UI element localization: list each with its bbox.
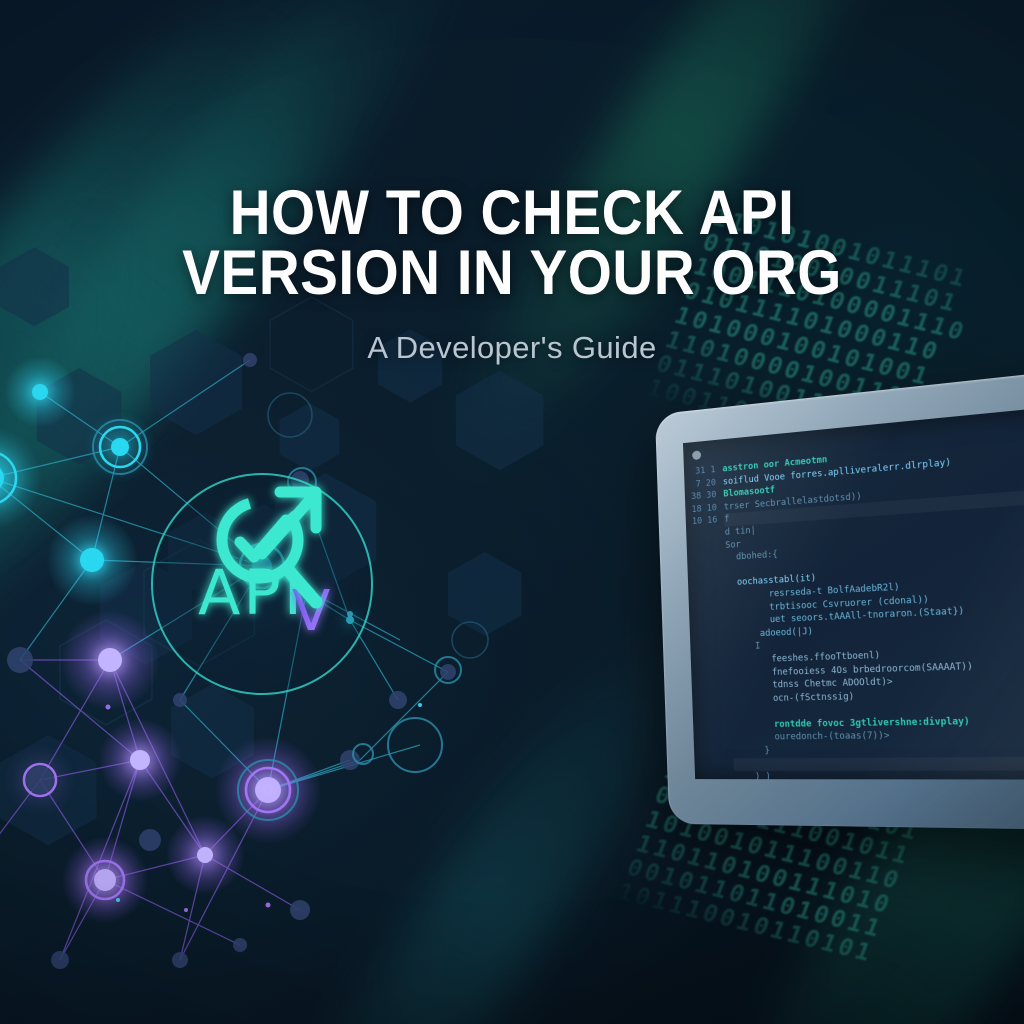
- code-content: asstron oor Acmeotmnsoiflud Vooe forres.…: [722, 431, 1024, 780]
- poster-canvas: 110101001011101 011010010011101 10011101…: [0, 0, 1024, 1024]
- editor-window-dot-icon: [692, 450, 701, 460]
- api-emblem: API V: [140, 462, 384, 706]
- title-block: HOW TO CHECK API VERSION IN YOUR ORG A D…: [0, 184, 1024, 366]
- page-title-line-2: VERSION IN YOUR ORG: [51, 244, 973, 304]
- page-title-line-1: HOW TO CHECK API: [51, 184, 973, 244]
- page-title: HOW TO CHECK API VERSION IN YOUR ORG: [51, 184, 973, 304]
- code-editor-tablet[interactable]: 31 1 7 20 38 30 18 10 10 16 asstron oor …: [655, 368, 1024, 831]
- code-line: ) ): [734, 771, 1024, 780]
- page-subtitle: A Developer's Guide: [0, 330, 1024, 366]
- code-editor-area[interactable]: 31 1 7 20 38 30 18 10 10 16 asstron oor …: [690, 431, 1024, 780]
- tablet-screen[interactable]: 31 1 7 20 38 30 18 10 10 16 asstron oor …: [683, 404, 1024, 779]
- code-line: [733, 756, 1024, 771]
